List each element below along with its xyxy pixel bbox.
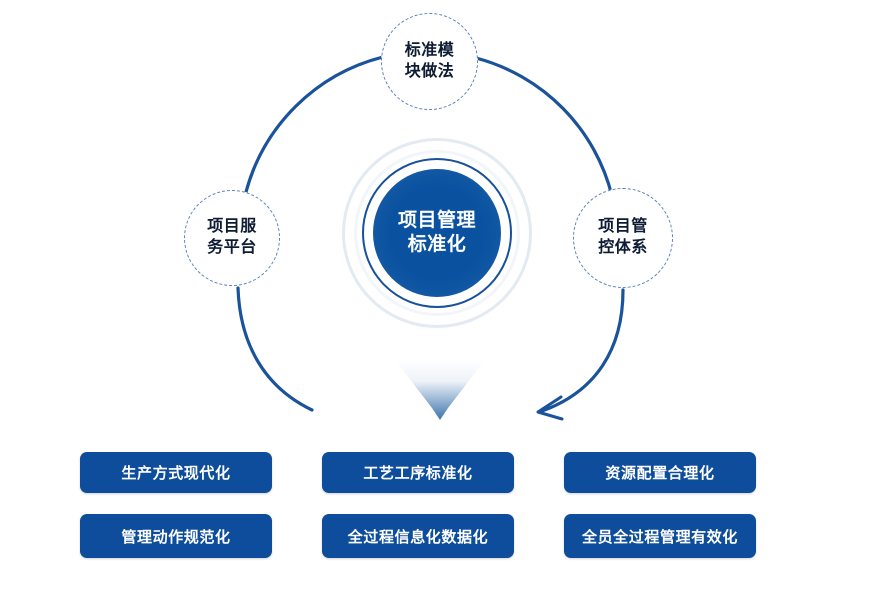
outcome-box-3[interactable]: 资源配置合理化 [564, 452, 756, 493]
down-arrow-icon [395, 360, 485, 420]
node-top-label-line2: 块做法 [405, 62, 455, 83]
outcome-box-1[interactable]: 生产方式现代化 [80, 452, 272, 493]
node-project-service-platform[interactable]: 项目服 务平台 [184, 190, 280, 286]
center-core-disc: 项目管理 标准化 [373, 169, 501, 297]
node-right-label-line1: 项目管 [598, 217, 648, 238]
node-standard-module-practice[interactable]: 标准模 块做法 [381, 13, 478, 110]
node-left-label: 项目服 务平台 [207, 217, 257, 259]
center-core-label-line2: 标准化 [398, 233, 476, 257]
center-emblem: 项目管理 标准化 [342, 138, 538, 334]
outcome-box-grid: 生产方式现代化 工艺工序标准化 资源配置合理化 管理动作规范化 全过程信息化数据… [80, 452, 804, 558]
node-right-label-line2: 控体系 [598, 238, 648, 259]
center-core-label: 项目管理 标准化 [398, 209, 476, 258]
node-left-label-line1: 项目服 [207, 217, 257, 238]
outcome-box-5[interactable]: 全过程信息化数据化 [322, 514, 514, 558]
diagram-canvas: 项目管理 标准化 标准模 块做法 项目服 务平台 项目管 控体系 生产方式现代化… [0, 0, 884, 590]
node-right-label: 项目管 控体系 [598, 217, 648, 259]
outcome-box-2[interactable]: 工艺工序标准化 [322, 452, 514, 493]
arc-left-descending [238, 288, 312, 410]
node-left-label-line2: 务平台 [207, 238, 257, 259]
node-project-control-system[interactable]: 项目管 控体系 [573, 188, 673, 288]
node-top-label-line1: 标准模 [405, 41, 455, 62]
outcome-box-4[interactable]: 管理动作规范化 [80, 514, 272, 558]
center-core-label-line1: 项目管理 [398, 209, 476, 233]
arc-right-descending [542, 290, 623, 411]
outcome-box-6[interactable]: 全员全过程管理有效化 [564, 514, 756, 558]
node-top-label: 标准模 块做法 [405, 41, 455, 83]
